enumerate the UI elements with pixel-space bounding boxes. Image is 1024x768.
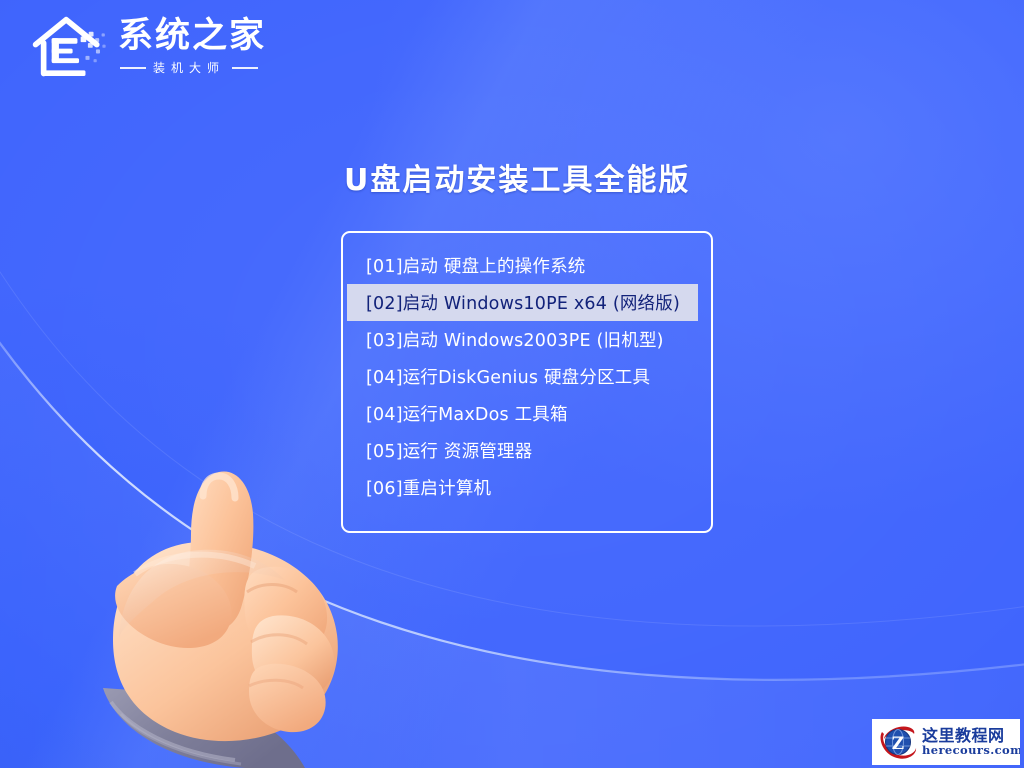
logo-tagline: 装机大师: [153, 59, 225, 76]
menu-item-02[interactable]: [02]启动 Windows10PE x64 (网络版): [347, 284, 698, 321]
svg-text:Z: Z: [892, 734, 904, 754]
watermark-site-name: 这里教程网: [922, 727, 1020, 745]
logo-dash-right: [232, 67, 258, 69]
house-pixel-logo-icon: [30, 14, 112, 80]
pointing-hand-illustration: [95, 470, 425, 768]
menu-item-04-maxdos[interactable]: [04]运行MaxDos 工具箱: [347, 395, 701, 432]
logo-brand-name: 系统之家: [118, 18, 266, 55]
boot-menu-screen: 系统之家 装机大师 U盘启动安装工具全能版 [01]启动 硬盘上的操作系统 [0…: [0, 0, 1024, 768]
page-title: U盘启动安装工具全能版: [344, 155, 744, 199]
brand-logo: 系统之家 装机大师: [30, 14, 280, 106]
menu-item-04-diskgenius[interactable]: [04]运行DiskGenius 硬盘分区工具: [347, 358, 701, 395]
z-globe-badge-icon: Z: [876, 722, 920, 762]
menu-item-05[interactable]: [05]运行 资源管理器: [347, 432, 701, 469]
logo-dash-left: [120, 67, 146, 69]
watermark: Z 这里教程网 herecours.com: [872, 719, 1020, 765]
menu-item-03[interactable]: [03]启动 Windows2003PE (旧机型): [347, 321, 701, 358]
watermark-site-url: herecours.com: [922, 744, 1020, 757]
menu-item-01[interactable]: [01]启动 硬盘上的操作系统: [347, 247, 701, 284]
